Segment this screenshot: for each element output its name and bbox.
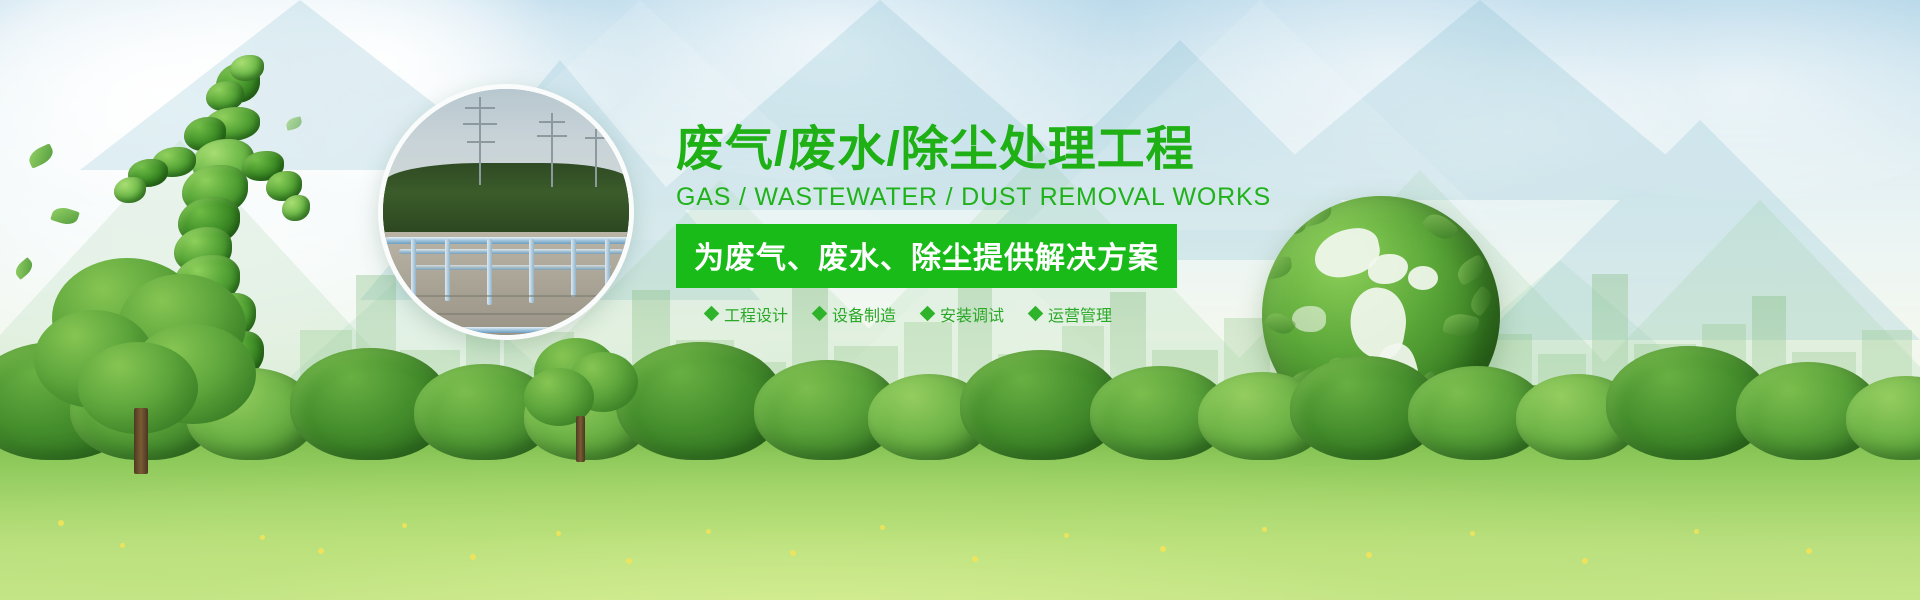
continent-shape: [1368, 254, 1408, 284]
flower-dot: [880, 525, 885, 530]
flower-dot: [318, 548, 324, 554]
flower-dot: [1160, 546, 1166, 552]
flower-dot: [260, 535, 265, 540]
flower-dot: [790, 550, 796, 556]
flower-dot: [706, 529, 711, 534]
flower-dot: [120, 543, 125, 548]
tree-row: [0, 290, 1920, 460]
flower-dot: [1582, 558, 1588, 564]
grass-highlight: [0, 450, 1920, 600]
flower-dot: [1806, 548, 1812, 554]
flower-dot: [1064, 533, 1069, 538]
flower-dot: [556, 531, 561, 536]
flower-dot: [626, 558, 632, 564]
flower-dot: [972, 556, 978, 562]
page-title: 废气/废水/除尘处理工程: [676, 126, 1296, 175]
flower-dot: [58, 520, 64, 526]
flower-dot: [470, 554, 476, 560]
foreground-tree: [34, 258, 264, 468]
flower-dot: [1366, 552, 1372, 558]
continent-shape: [1408, 266, 1438, 290]
flower-dot: [1470, 531, 1475, 536]
tagline-badge: 为废气、废水、除尘提供解决方案: [676, 224, 1177, 288]
banner-hero: 废气/废水/除尘处理工程 GAS / WASTEWATER / DUST REM…: [0, 0, 1920, 600]
flower-dot: [1694, 529, 1699, 534]
foreground-tree-small: [524, 338, 644, 458]
flower-dot: [402, 523, 407, 528]
page-subtitle-english: GAS / WASTEWATER / DUST REMOVAL WORKS: [676, 183, 1296, 212]
flower-dot: [1262, 527, 1267, 532]
